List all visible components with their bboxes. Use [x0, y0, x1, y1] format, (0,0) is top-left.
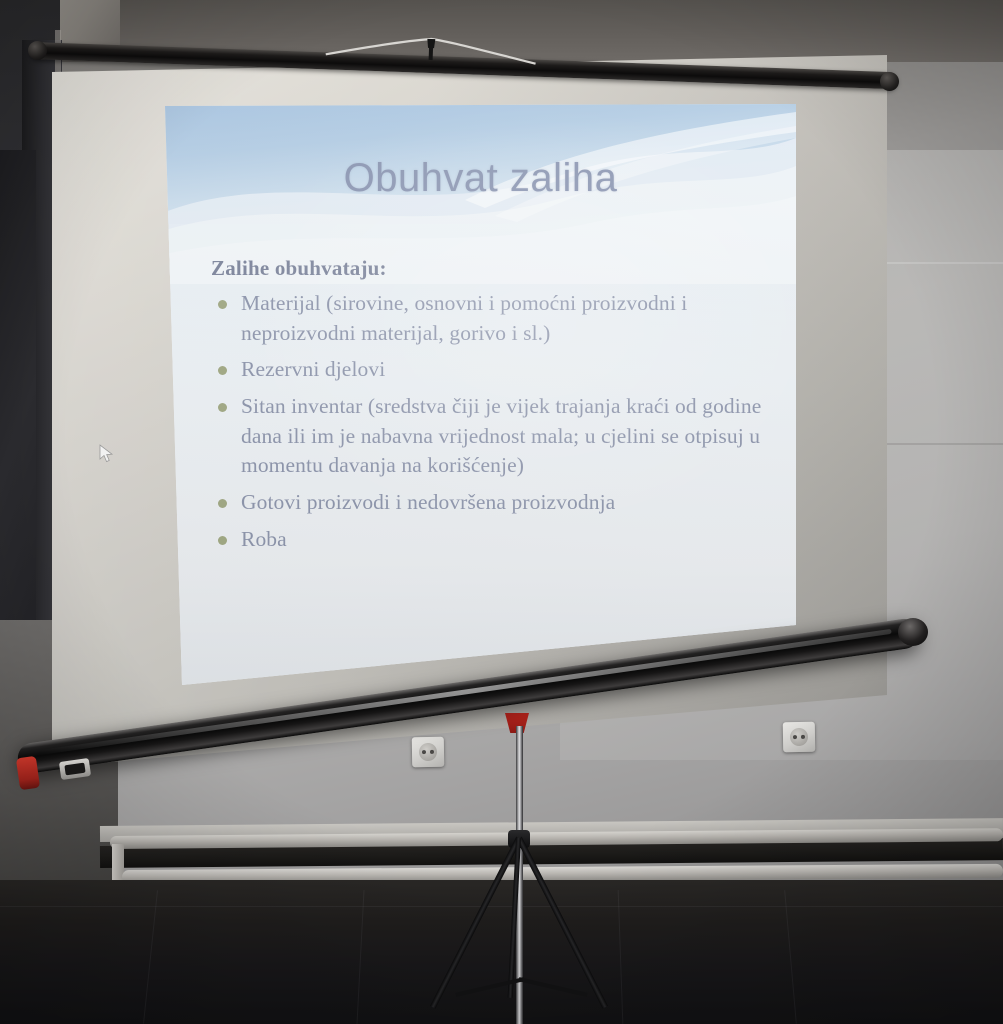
floor-tile-seam: [0, 906, 1003, 907]
floor-tile-seam: [143, 890, 158, 1023]
mouse-pointer-arrow-icon: [99, 444, 115, 464]
projected-slide: Obuhvat zaliha Zalihe obuhvataju: Materi…: [165, 104, 796, 686]
socket-hole: [430, 750, 434, 754]
tiled-floor: [0, 880, 1003, 1024]
roller-end-cap-right: [898, 618, 928, 646]
socket-face: [790, 728, 808, 746]
floor-tile-seam: [618, 890, 624, 1024]
floor-tile-seam: [356, 890, 364, 1024]
slide-projection-glare: [165, 104, 796, 686]
socket-face: [419, 743, 437, 761]
floor-tile-seam: [784, 890, 797, 1024]
socket-hole: [801, 735, 805, 739]
socket-hole: [793, 735, 797, 739]
projector-room-photo: Obuhvat zaliha Zalihe obuhvataju: Materi…: [0, 0, 1003, 1024]
power-outlet-right: [783, 722, 816, 753]
socket-hole: [422, 750, 426, 754]
roller-end-cap-red: [16, 756, 40, 790]
power-outlet-left: [412, 737, 445, 768]
